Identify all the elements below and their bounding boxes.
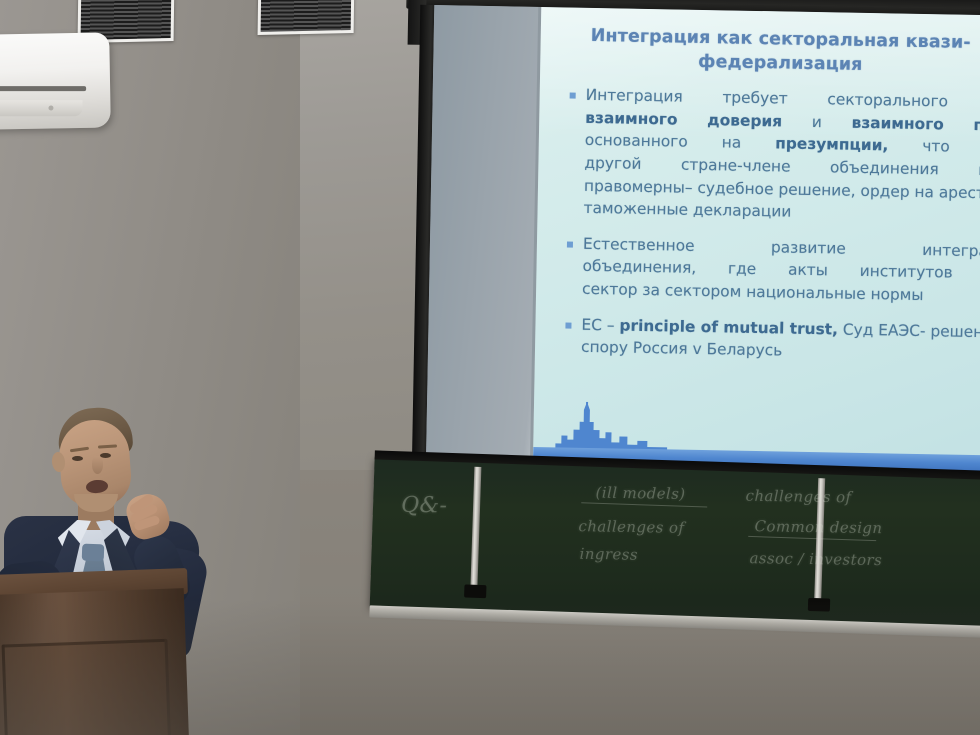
msu-main-building-silhouette-icon bbox=[555, 401, 668, 453]
slide-text-segment: объединения bbox=[830, 156, 939, 181]
speaker-tie-knot bbox=[82, 544, 105, 562]
chalk-underline-1 bbox=[581, 502, 707, 507]
slide-text-segment: объединения, bbox=[582, 255, 696, 280]
slide-text-segment: основанного bbox=[585, 129, 688, 154]
speaker-nose bbox=[92, 456, 103, 474]
slide-body: Интеграциятребуетсекторальногопринципавз… bbox=[541, 83, 980, 380]
slide-text-segment: и bbox=[812, 111, 822, 134]
slide-text-segment: спору Россия v Беларусь bbox=[581, 338, 782, 360]
slide-text-segment: сектор за сектором национальные нормы bbox=[582, 280, 924, 304]
wall-vignette bbox=[0, 600, 980, 735]
slide-text-segment: на bbox=[722, 132, 742, 155]
chalkboard-rail-1 bbox=[470, 467, 481, 587]
slide-text-segment: взаимного bbox=[585, 106, 678, 130]
chalk-note-2: (ill models) bbox=[595, 484, 685, 503]
slide-text-segment: секторального bbox=[827, 88, 948, 113]
square-bullet-icon bbox=[567, 241, 573, 247]
slide-text-segment: где bbox=[728, 258, 757, 281]
projection-screen: Интеграция как секторальная квази- федер… bbox=[397, 0, 980, 503]
chalk-note-3: challenges of bbox=[578, 517, 684, 537]
slide-text-segment: что bbox=[922, 135, 950, 158]
square-bullet-icon bbox=[565, 322, 571, 328]
slide-text-segment: акты bbox=[788, 259, 828, 282]
vent-louvers bbox=[261, 0, 352, 32]
square-bullet-icon bbox=[570, 93, 576, 99]
chalk-note-1: Q&- bbox=[401, 493, 448, 519]
slide-text-segment: таможенные декларации bbox=[583, 199, 791, 221]
slide-text-segment: principle of mutual trust, bbox=[619, 316, 838, 338]
air-conditioner bbox=[0, 32, 111, 130]
lecture-hall-photo: Интеграция как секторальная квази- федер… bbox=[0, 0, 980, 735]
slide-text-segment: взаимного bbox=[851, 111, 944, 135]
slide-bullet-text: Естественноеразвитиеинтеграционногообъед… bbox=[582, 233, 980, 309]
speaker-eye-left bbox=[72, 456, 83, 461]
screen-surface: Интеграция как секторальная квази- федер… bbox=[426, 5, 980, 474]
slide-title: Интеграция как секторальная квази- федер… bbox=[550, 23, 980, 80]
chalk-note-6: Common design bbox=[754, 517, 882, 537]
chalkboard-rail-foot-1 bbox=[464, 584, 486, 598]
air-conditioner-lip bbox=[0, 100, 82, 116]
chalk-note-4: ingress bbox=[579, 545, 638, 564]
slide-text-segment: признания bbox=[973, 114, 980, 138]
slide-text-segment: требует bbox=[722, 86, 788, 110]
slide-text-segment: интеграционного bbox=[922, 239, 980, 264]
slide-text-segment: Суд ЕАЭС- решение по bbox=[838, 320, 980, 341]
slide-text-segment: институтов bbox=[859, 260, 952, 284]
slide-text-segment: Естественное bbox=[583, 233, 695, 258]
air-conditioner-vent-slit bbox=[0, 86, 86, 91]
air-conditioner-indicator-icon bbox=[48, 105, 53, 110]
presentation-slide: Интеграция как секторальная квази- федер… bbox=[533, 7, 980, 474]
slide-text-segment: Интеграция bbox=[585, 84, 682, 108]
slide-bullet-text: Интеграциятребуетсекторальногопринципавз… bbox=[583, 84, 980, 228]
slide-bullet-1: Интеграциятребуетсекторальногопринципавз… bbox=[543, 83, 980, 228]
slide-text-segment: доверия bbox=[707, 109, 782, 133]
screen-unused-area bbox=[426, 5, 542, 465]
slide-text-segment: презумпции, bbox=[775, 133, 889, 158]
ceiling-vent-right-icon bbox=[258, 0, 355, 35]
slide-bullet-3: ЕС – principle of mutual trust, Суд ЕАЭС… bbox=[541, 313, 980, 367]
chalk-note-5: challenges of bbox=[745, 487, 851, 507]
slide-text-segment: другой bbox=[584, 152, 641, 176]
slide-text-segment: ЕС – bbox=[581, 316, 619, 335]
slide-bullet-2: Естественноеразвитиеинтеграционногообъед… bbox=[542, 232, 980, 309]
slide-bullet-text: ЕС – principle of mutual trust, Суд ЕАЭС… bbox=[581, 314, 980, 368]
slide-text-segment: развитие bbox=[771, 236, 846, 260]
slide-text-segment: стране-члене bbox=[681, 154, 791, 179]
chalk-note-7: assoc / investors bbox=[749, 549, 882, 569]
